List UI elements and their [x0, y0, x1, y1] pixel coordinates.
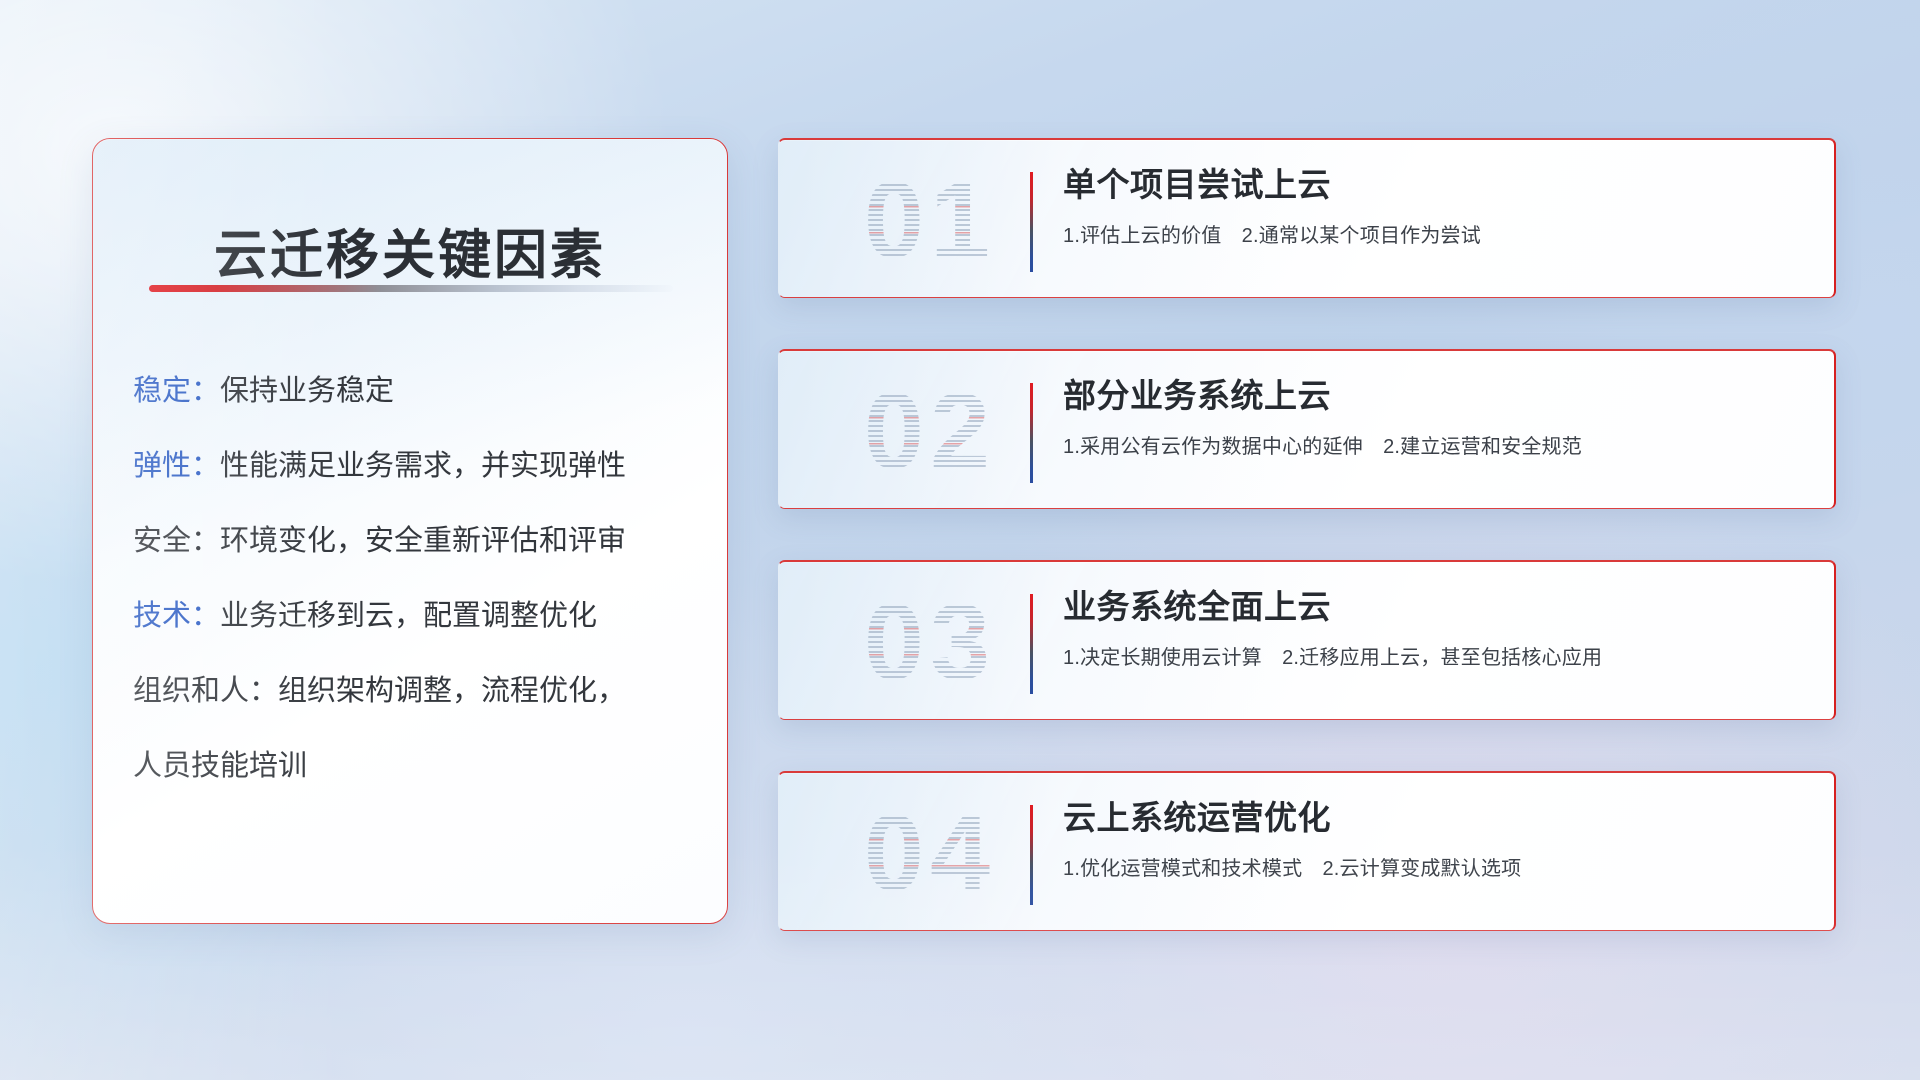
page-title: 云迁移关键因素 — [93, 227, 727, 285]
list-item-label: 组织和人： — [133, 675, 278, 707]
step-title: 云上系统运营优化 — [1063, 797, 1808, 838]
step-card[interactable]: 03 03 业务系统全面上云 1.决定长期使用云计算 2.迁移应用上云，甚至包括… — [778, 560, 1836, 720]
step-title: 业务系统全面上云 — [1063, 586, 1808, 627]
step-content: 部分业务系统上云 1.采用公有云作为数据中心的延伸 2.建立运营和安全规范 — [1063, 375, 1808, 459]
step-card[interactable]: 02 02 部分业务系统上云 1.采用公有云作为数据中心的延伸 2.建立运营和安… — [778, 349, 1836, 509]
step-divider — [1030, 594, 1033, 694]
step-card[interactable]: 01 01 单个项目尝试上云 1.评估上云的价值 2.通常以某个项目作为尝试 — [778, 138, 1836, 298]
list-item-text: 组织架构调整，流程优化， — [278, 675, 626, 707]
list-item-label: 弹性： — [133, 450, 220, 482]
step-card[interactable]: 04 04 云上系统运营优化 1.优化运营模式和技术模式 2.云计算变成默认选项 — [778, 771, 1836, 931]
step-title: 部分业务系统上云 — [1063, 375, 1808, 416]
list-item: 稳定：保持业务稳定 — [133, 377, 693, 406]
key-factors-panel: 云迁移关键因素 稳定：保持业务稳定 弹性：性能满足业务需求，并实现弹性 安全：环… — [92, 138, 728, 924]
step-description: 1.优化运营模式和技术模式 2.云计算变成默认选项 — [1063, 852, 1808, 881]
step-content: 业务系统全面上云 1.决定长期使用云计算 2.迁移应用上云，甚至包括核心应用 — [1063, 586, 1808, 670]
list-item-text: 环境变化，安全重新评估和评审 — [220, 525, 626, 557]
list-item-label: 安全： — [133, 525, 220, 557]
list-item-text: 人员技能培训 — [133, 750, 307, 782]
step-description: 1.评估上云的价值 2.通常以某个项目作为尝试 — [1063, 219, 1808, 248]
list-item-label: 技术： — [133, 600, 220, 632]
step-content: 云上系统运营优化 1.优化运营模式和技术模式 2.云计算变成默认选项 — [1063, 797, 1808, 881]
list-item-continuation: 人员技能培训 — [133, 752, 693, 781]
list-item: 弹性：性能满足业务需求，并实现弹性 — [133, 452, 693, 481]
step-divider — [1030, 172, 1033, 272]
step-number: 04 — [815, 787, 1045, 919]
list-item: 安全：环境变化，安全重新评估和评审 — [133, 527, 693, 556]
list-item-text: 性能满足业务需求，并实现弹性 — [220, 450, 626, 482]
step-description: 1.决定长期使用云计算 2.迁移应用上云，甚至包括核心应用 — [1063, 641, 1808, 670]
list-item-text: 业务迁移到云，配置调整优化 — [220, 600, 597, 632]
step-title: 单个项目尝试上云 — [1063, 164, 1808, 205]
list-item-text: 保持业务稳定 — [220, 375, 394, 407]
title-underline-rule — [149, 285, 673, 292]
step-number: 01 — [815, 154, 1045, 286]
step-number: 02 — [815, 365, 1045, 497]
migration-steps-list: 01 01 单个项目尝试上云 1.评估上云的价值 2.通常以某个项目作为尝试 0… — [778, 138, 1836, 931]
list-item: 技术：业务迁移到云，配置调整优化 — [133, 602, 693, 631]
list-item: 组织和人：组织架构调整，流程优化， — [133, 677, 693, 706]
step-divider — [1030, 805, 1033, 905]
step-content: 单个项目尝试上云 1.评估上云的价值 2.通常以某个项目作为尝试 — [1063, 164, 1808, 248]
key-factors-list: 稳定：保持业务稳定 弹性：性能满足业务需求，并实现弹性 安全：环境变化，安全重新… — [133, 377, 693, 781]
step-description: 1.采用公有云作为数据中心的延伸 2.建立运营和安全规范 — [1063, 430, 1808, 459]
list-item-label: 稳定： — [133, 375, 220, 407]
step-divider — [1030, 383, 1033, 483]
step-number: 03 — [815, 576, 1045, 708]
slide-canvas: 云迁移关键因素 稳定：保持业务稳定 弹性：性能满足业务需求，并实现弹性 安全：环… — [0, 0, 1920, 1080]
